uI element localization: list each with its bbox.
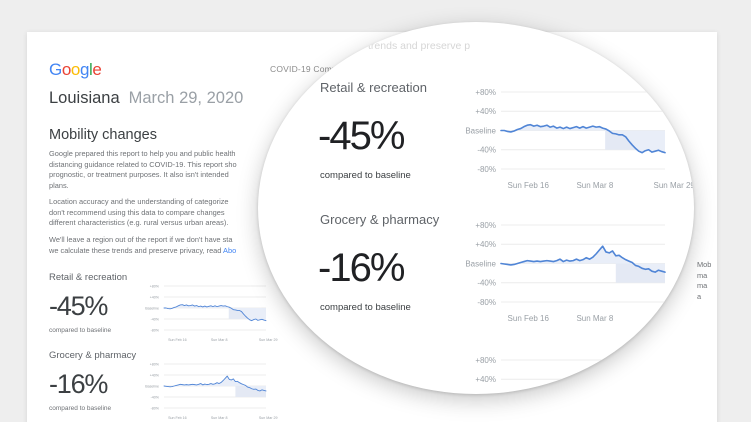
svg-text:Sun Feb 16: Sun Feb 16: [168, 338, 187, 342]
about-this-data-link[interactable]: Abo: [223, 246, 236, 255]
lens-faint-top-text: se trends and preserve p: [354, 40, 470, 52]
svg-text:-80%: -80%: [477, 298, 496, 307]
lens-chart-retail-recreation: +80%+40%Baseline-40%-80%Sun Feb 16Sun Ma…: [453, 84, 671, 189]
svg-text:-80%: -80%: [477, 165, 496, 174]
screenshot-root: Google COVID-19 Commu LouisianaMarch 29,…: [0, 0, 751, 422]
mini-chart-grocery-pharmacy: +80%+40%Baseline-40%-80%Sun Feb 16Sun Ma…: [138, 358, 270, 420]
logo-letter-o1: o: [62, 60, 71, 79]
lens-chart-parks: +80%+40%Baseline-40%-80%Sun Feb 16Sun Ma…: [453, 352, 671, 394]
region-name: Louisiana: [49, 89, 120, 107]
svg-text:Sun Mar 8: Sun Mar 8: [576, 181, 613, 190]
svg-text:-40%: -40%: [477, 279, 496, 288]
region-date-line: LouisianaMarch 29, 2020: [49, 89, 243, 108]
svg-text:+40%: +40%: [475, 107, 496, 116]
lens-metric-value-grocery: -16%: [318, 246, 403, 291]
svg-text:+40%: +40%: [150, 373, 160, 377]
lens-metric-title-retail: Retail & recreation: [320, 80, 427, 95]
paragraph-3-line-1: We'll leave a region out of the report i…: [49, 235, 232, 244]
svg-text:Baseline: Baseline: [465, 126, 496, 135]
svg-text:-40%: -40%: [477, 146, 496, 155]
lens-metric-subtitle-grocery: compared to baseline: [320, 302, 411, 313]
svg-text:Baseline: Baseline: [465, 259, 496, 268]
svg-text:+80%: +80%: [150, 362, 160, 366]
lens-metric-value-retail: -45%: [318, 114, 403, 159]
mini-chart-retail-recreation: +80%+40%Baseline-40%-80%Sun Feb 16Sun Ma…: [138, 280, 270, 342]
lens-metric-subtitle-retail: compared to baseline: [320, 170, 411, 181]
svg-text:+80%: +80%: [475, 88, 496, 97]
magnifier-lens: se trends and preserve p COVID-19 Commu …: [258, 22, 694, 394]
svg-text:Sun Feb 16: Sun Feb 16: [168, 416, 187, 420]
svg-text:Sun Mar 29: Sun Mar 29: [654, 314, 694, 323]
svg-text:-40%: -40%: [151, 395, 160, 399]
lens-faint-label: COVID-19 Commu: [264, 62, 323, 69]
svg-text:+40%: +40%: [475, 375, 496, 384]
page-title: Mobility changes: [49, 127, 157, 143]
lens-section-title-parks: rks: [298, 340, 315, 355]
svg-text:+40%: +40%: [475, 240, 496, 249]
svg-text:Sun Mar 8: Sun Mar 8: [576, 314, 613, 323]
svg-text:-80%: -80%: [151, 406, 160, 410]
google-logo: Google: [49, 60, 101, 80]
logo-letter-G: G: [49, 60, 62, 79]
svg-text:+40%: +40%: [150, 295, 160, 299]
report-date: March 29, 2020: [129, 89, 244, 107]
svg-text:+80%: +80%: [475, 221, 496, 230]
paragraph-3-line-2: we calculate these trends and preserve p…: [49, 246, 223, 255]
svg-text:Baseline: Baseline: [145, 384, 159, 388]
lens-metric-title-grocery: Grocery & pharmacy: [320, 212, 439, 227]
logo-letter-g: g: [80, 60, 89, 79]
svg-text:Sun Mar 8: Sun Mar 8: [211, 338, 228, 342]
svg-text:Sun Mar 8: Sun Mar 8: [211, 416, 228, 420]
svg-text:Sun Feb 16: Sun Feb 16: [508, 314, 550, 323]
svg-text:Sun Feb 16: Sun Feb 16: [508, 181, 550, 190]
right-column-clipped-text: Mob ma ma a: [697, 260, 717, 302]
svg-text:+80%: +80%: [150, 284, 160, 288]
logo-letter-e: e: [92, 60, 101, 79]
svg-text:Baseline: Baseline: [145, 306, 159, 310]
svg-text:Sun Mar 29: Sun Mar 29: [259, 416, 278, 420]
svg-text:Sun Mar 29: Sun Mar 29: [654, 181, 694, 190]
lens-chart-grocery-pharmacy: +80%+40%Baseline-40%-80%Sun Feb 16Sun Ma…: [453, 217, 671, 322]
logo-letter-o2: o: [71, 60, 80, 79]
svg-text:+80%: +80%: [475, 356, 496, 365]
svg-text:-80%: -80%: [151, 328, 160, 332]
svg-text:-40%: -40%: [151, 317, 160, 321]
